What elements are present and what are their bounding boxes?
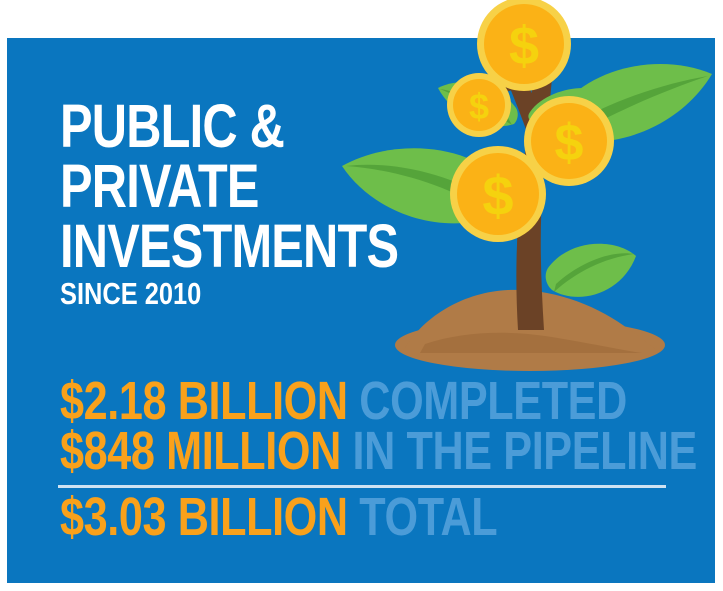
infographic-canvas: $ $ $ $ PUBLIC & PRIVATE INVESTMENTS S [0,0,723,591]
stat-label-total: TOTAL [348,487,498,547]
stat-figure-total: $3.03 BILLION [60,487,348,547]
headline-subtitle: SINCE 2010 [60,277,413,311]
stat-figure-pipeline: $848 MILLION [60,421,341,481]
headline-line-1: PUBLIC & [60,96,404,156]
headline-line-2: PRIVATE [60,156,404,216]
stat-row-completed: $2.18 BILLION COMPLETED [60,376,700,426]
stat-row-total: $3.03 BILLION TOTAL [60,492,700,546]
headline-line-3: INVESTMENTS [60,216,404,276]
stat-row-pipeline: $848 MILLION IN THE PIPELINE [60,426,700,476]
stat-label-pipeline: IN THE PIPELINE [341,421,697,481]
headline-block: PUBLIC & PRIVATE INVESTMENTS SINCE 2010 [60,96,490,311]
stats-block: $2.18 BILLION COMPLETED $848 MILLION IN … [60,376,700,476]
